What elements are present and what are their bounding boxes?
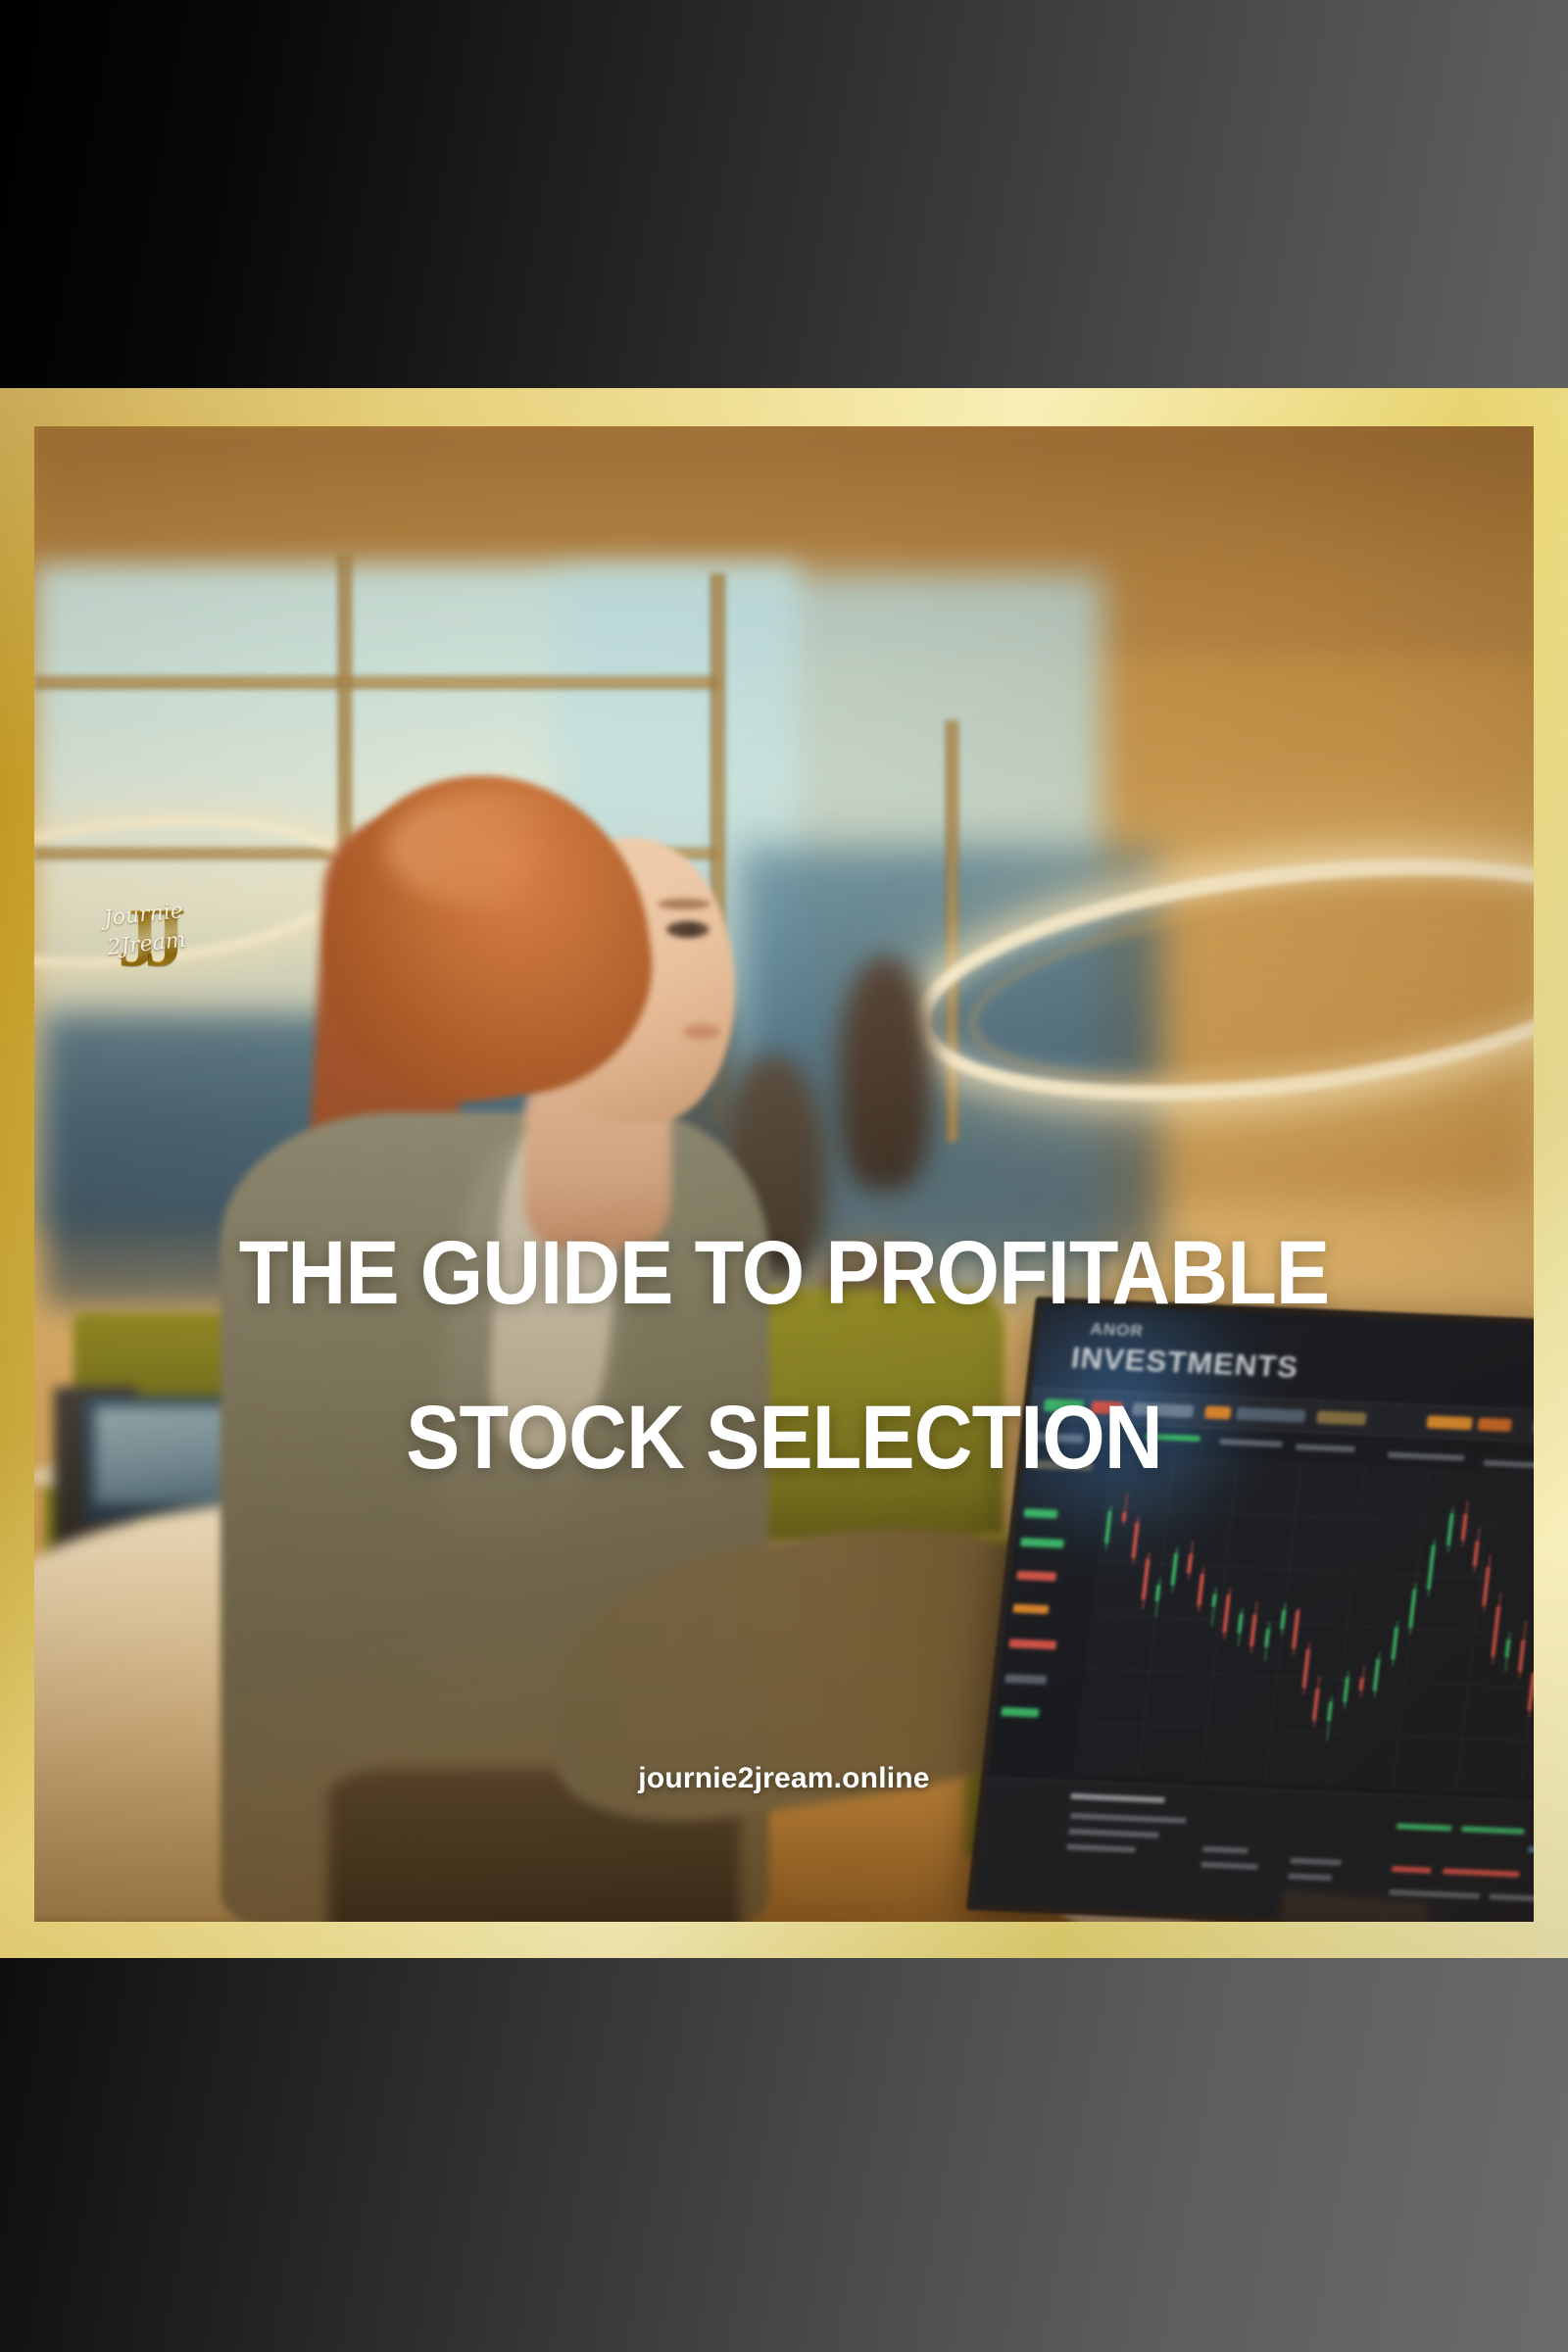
sidebar-label-5[interactable] — [1016, 1571, 1056, 1582]
sidebar-label-6[interactable] — [1012, 1604, 1049, 1615]
site-url-label[interactable]: journie2jream.online — [0, 1762, 1568, 1795]
chart-gridline-h — [1092, 1614, 1534, 1638]
bottom-row-2 — [1068, 1829, 1159, 1838]
chart-candle-body — [1391, 1627, 1398, 1659]
chart-candle-body — [1312, 1689, 1320, 1721]
chart-candle-body — [1427, 1544, 1436, 1590]
chart-gridline-h — [1079, 1721, 1534, 1744]
chart-candle-body — [1223, 1594, 1231, 1634]
chart-candle-body — [1292, 1610, 1299, 1649]
chart-candle-body — [1301, 1649, 1309, 1689]
sidebar-label-9[interactable] — [1001, 1707, 1039, 1718]
bottom-link[interactable] — [1528, 1846, 1534, 1855]
chart-candle-body — [1373, 1659, 1381, 1691]
sidebar-label-7[interactable] — [1008, 1639, 1056, 1649]
toolbar-item-6[interactable] — [1477, 1418, 1512, 1432]
chart-candle-body — [1504, 1639, 1510, 1658]
jj-monogram-logo[interactable]: JJ Journie 2Jream — [85, 879, 203, 997]
chart-candle-body — [1358, 1678, 1363, 1690]
page-title: THE GUIDE TO PROFITABLE STOCK SELECTION — [110, 1191, 1459, 1520]
subject-eye — [666, 921, 710, 938]
chart-candle-body — [1517, 1640, 1525, 1672]
chart-candle-body — [1472, 1541, 1479, 1566]
chart-label-4 — [1483, 1460, 1534, 1469]
chart-gridline-h — [1098, 1560, 1534, 1584]
bottom-row-7 — [1288, 1873, 1332, 1881]
bottom-row-9 — [1489, 1893, 1534, 1903]
bottom-row-5 — [1200, 1862, 1258, 1870]
chart-candle-body — [1132, 1522, 1140, 1557]
chart-candle-body — [1408, 1590, 1416, 1629]
chart-candle-body — [1141, 1558, 1150, 1600]
bottom-row-4 — [1202, 1846, 1249, 1854]
chart-candle-body — [1187, 1553, 1193, 1573]
chart-gridline-h — [1085, 1668, 1534, 1691]
chart-candle-body — [1280, 1609, 1286, 1629]
sidebar-label-8[interactable] — [1004, 1674, 1047, 1685]
chart-candle-body — [1211, 1593, 1216, 1606]
bottom-loss-2 — [1443, 1868, 1520, 1877]
bottom-row-6 — [1290, 1858, 1342, 1866]
headline-line-2: STOCK SELECTION — [110, 1355, 1459, 1520]
subject-eyebrow — [658, 899, 710, 909]
bottom-row-3 — [1066, 1844, 1136, 1853]
chart-candle-body — [1171, 1553, 1179, 1586]
logo-script-text: Journie 2Jream — [87, 895, 205, 984]
toolbar-item-7[interactable] — [1533, 1420, 1534, 1435]
chart-candle-body — [1527, 1672, 1534, 1711]
subject-hair-highlight — [387, 791, 612, 908]
chart-candle-body — [1198, 1574, 1205, 1606]
chart-candle-body — [1155, 1585, 1161, 1601]
dashboard-bottom-panel[interactable] — [973, 1777, 1534, 1922]
chart-candle-body — [1343, 1677, 1349, 1702]
bottom-row-8 — [1389, 1889, 1480, 1899]
bottom-row-1 — [1070, 1813, 1187, 1824]
chart-candle-body — [1237, 1614, 1243, 1634]
subject-lips — [683, 1024, 720, 1040]
sidebar-label-4[interactable] — [1020, 1538, 1064, 1548]
bottom-gain-1 — [1396, 1823, 1452, 1831]
chart-candle-body — [1327, 1702, 1333, 1722]
promotional-photo: ANOR INVESTMENTS — [34, 426, 1534, 1922]
bottom-gain-2 — [1461, 1826, 1525, 1835]
headline-line-1: THE GUIDE TO PROFITABLE — [110, 1191, 1459, 1355]
bottom-loss-1 — [1392, 1866, 1432, 1874]
chart-candle-body — [1249, 1615, 1257, 1647]
chart-candle-body — [1482, 1567, 1490, 1606]
chart-candle-body — [1461, 1514, 1468, 1540]
chart-candle-body — [1264, 1628, 1270, 1647]
gold-border-frame: ANOR INVESTMENTS — [0, 388, 1568, 1958]
